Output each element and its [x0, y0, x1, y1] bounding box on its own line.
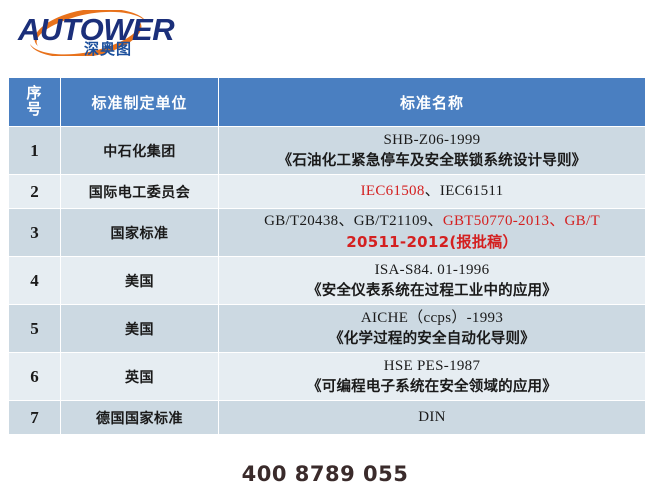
row-index: 6: [9, 353, 61, 401]
standard-code-highlight: IEC61508: [361, 183, 425, 199]
row-organization: 德国国家标准: [61, 401, 219, 435]
table-row: 2 国际电工委员会 IEC61508、IEC61511: [9, 175, 646, 209]
standard-code: DIN: [418, 409, 446, 425]
row-organization: 美国: [61, 257, 219, 305]
standard-title: 《石油化工紧急停车及安全联锁系统设计导则》: [278, 153, 587, 169]
row-standard-name: HSE PES-1987 《可编程电子系统在安全领域的应用》: [219, 353, 646, 401]
row-index: 2: [9, 175, 61, 209]
row-organization: 美国: [61, 305, 219, 353]
row-organization: 英国: [61, 353, 219, 401]
table-row: 5 美国 AICHE（ccps）-1993 《化学过程的安全自动化导则》: [9, 305, 646, 353]
row-organization: 中石化集团: [61, 127, 219, 175]
standard-code: SHB-Z06-1999: [384, 132, 481, 148]
standard-code: GB/T20438、GB/T21109、: [264, 213, 443, 229]
standards-table: 序 号 标准制定单位 标准名称 1 中石化集团 SHB-Z06-1999 《石油…: [8, 77, 646, 435]
table-row: 1 中石化集团 SHB-Z06-1999 《石油化工紧急停车及安全联锁系统设计导…: [9, 127, 646, 175]
row-standard-name: DIN: [219, 401, 646, 435]
row-index: 3: [9, 209, 61, 257]
column-header-index-line2: 号: [26, 100, 42, 118]
column-header-standard-name: 标准名称: [219, 78, 646, 127]
row-index: 7: [9, 401, 61, 435]
row-standard-name: GB/T20438、GB/T21109、GBT50770-2013、GB/T 2…: [219, 209, 646, 257]
company-logo: AUTOWER 深奥图: [8, 4, 208, 66]
standard-code-highlight: GBT50770-2013、GB/T: [443, 213, 600, 229]
standard-title: 《化学过程的安全自动化导则》: [329, 331, 535, 347]
row-index: 4: [9, 257, 61, 305]
logo-chinese-name: 深奥图: [84, 42, 132, 57]
footer-phone-number: 400 8789 055: [0, 462, 650, 486]
table-row: 4 美国 ISA-S84. 01-1996 《安全仪表系统在过程工业中的应用》: [9, 257, 646, 305]
table-row: 7 德国国家标准 DIN: [9, 401, 646, 435]
row-standard-name: IEC61508、IEC61511: [219, 175, 646, 209]
standard-code: 、IEC61511: [425, 183, 504, 199]
table-row: 3 国家标准 GB/T20438、GB/T21109、GBT50770-2013…: [9, 209, 646, 257]
standard-code: HSE PES-1987: [384, 358, 481, 374]
standard-code: ISA-S84. 01-1996: [375, 262, 490, 278]
column-header-index: 序 号: [9, 78, 61, 127]
row-organization: 国际电工委员会: [61, 175, 219, 209]
column-header-organization: 标准制定单位: [61, 78, 219, 127]
standard-code-highlight-2: 20511-2012(报批稿）: [346, 233, 518, 251]
row-standard-name: AICHE（ccps）-1993 《化学过程的安全自动化导则》: [219, 305, 646, 353]
row-index: 5: [9, 305, 61, 353]
standard-code: AICHE（ccps）-1993: [361, 310, 503, 326]
table-body: 1 中石化集团 SHB-Z06-1999 《石油化工紧急停车及安全联锁系统设计导…: [9, 127, 646, 435]
table-row: 6 英国 HSE PES-1987 《可编程电子系统在安全领域的应用》: [9, 353, 646, 401]
standard-title: 《可编程电子系统在安全领域的应用》: [307, 379, 557, 395]
row-standard-name: ISA-S84. 01-1996 《安全仪表系统在过程工业中的应用》: [219, 257, 646, 305]
row-standard-name: SHB-Z06-1999 《石油化工紧急停车及安全联锁系统设计导则》: [219, 127, 646, 175]
row-organization: 国家标准: [61, 209, 219, 257]
table-header-row: 序 号 标准制定单位 标准名称: [9, 78, 646, 127]
standard-title: 《安全仪表系统在过程工业中的应用》: [307, 283, 557, 299]
row-index: 1: [9, 127, 61, 175]
